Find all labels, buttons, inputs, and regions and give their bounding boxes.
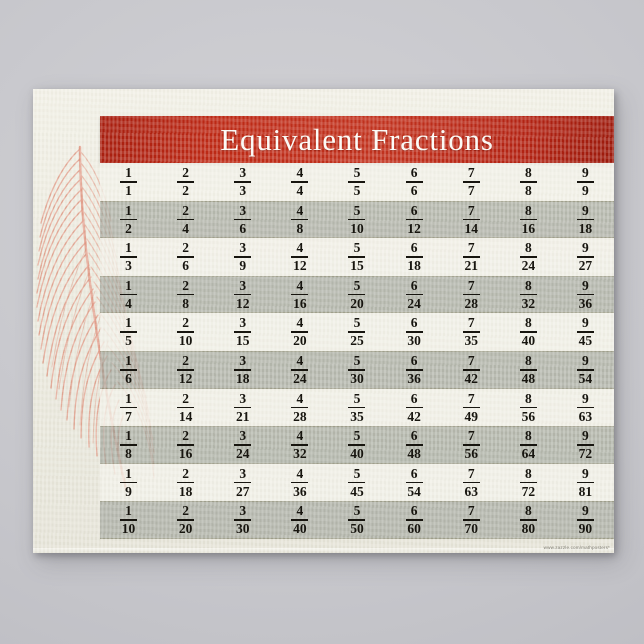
fraction-cell: 981	[557, 467, 614, 499]
fraction-numerator: 3	[239, 504, 246, 519]
fraction-cell: 963	[557, 392, 614, 424]
fraction-denominator: 35	[350, 410, 364, 424]
fraction-cell: 110	[100, 504, 157, 536]
fraction-cell: 770	[443, 504, 500, 536]
fraction-cell: 936	[557, 279, 614, 311]
fraction-numerator: 6	[411, 279, 418, 294]
fraction-cell: 24	[157, 204, 214, 236]
fraction-denominator: 32	[522, 297, 536, 311]
fraction-numerator: 7	[468, 166, 475, 181]
fraction-cell: 312	[214, 279, 271, 311]
fraction-cell: 636	[386, 354, 443, 386]
fraction-cell: 756	[443, 429, 500, 461]
fraction-bar	[463, 219, 480, 221]
fraction-cell: 654	[386, 467, 443, 499]
fraction-cell: 990	[557, 504, 614, 536]
fraction-denominator: 4	[297, 184, 304, 198]
fraction-cell: 36	[214, 204, 271, 236]
fraction-denominator: 3	[125, 259, 132, 273]
fraction-denominator: 36	[407, 372, 421, 386]
fraction-cell: 721	[443, 241, 500, 273]
fraction-numerator: 2	[182, 429, 189, 444]
fraction-cell: 330	[214, 504, 271, 536]
fraction-denominator: 27	[579, 259, 593, 273]
fraction-denominator: 64	[522, 447, 536, 461]
fraction-bar	[291, 407, 308, 409]
fraction-cell: 11	[100, 166, 157, 198]
fraction-cell: 714	[443, 204, 500, 236]
fraction-cell: 55	[328, 166, 385, 198]
fraction-cell: 510	[328, 204, 385, 236]
fraction-denominator: 60	[407, 522, 421, 536]
fraction-cell: 13	[100, 241, 157, 273]
fraction-numerator: 1	[125, 429, 132, 444]
fraction-cell: 927	[557, 241, 614, 273]
fraction-cell: 412	[271, 241, 328, 273]
fraction-denominator: 28	[293, 410, 307, 424]
fraction-denominator: 63	[579, 410, 593, 424]
fraction-numerator: 9	[582, 467, 589, 482]
fraction-numerator: 5	[354, 279, 361, 294]
fraction-denominator: 14	[464, 222, 478, 236]
fraction-numerator: 9	[582, 392, 589, 407]
fraction-numerator: 1	[125, 354, 132, 369]
fraction-numerator: 1	[125, 241, 132, 256]
fraction-numerator: 2	[182, 204, 189, 219]
fraction-numerator: 8	[525, 166, 532, 181]
fraction-denominator: 36	[579, 297, 593, 311]
fraction-denominator: 4	[125, 297, 132, 311]
fraction-denominator: 1	[125, 184, 132, 198]
fraction-bar	[577, 407, 594, 409]
fraction-numerator: 8	[525, 429, 532, 444]
fraction-cell: 48	[271, 204, 328, 236]
fraction-numerator: 8	[525, 354, 532, 369]
fraction-numerator: 2	[182, 354, 189, 369]
fraction-numerator: 4	[297, 467, 304, 482]
fraction-denominator: 7	[468, 184, 475, 198]
fraction-cell: 749	[443, 392, 500, 424]
fraction-denominator: 80	[522, 522, 536, 536]
fraction-numerator: 8	[525, 504, 532, 519]
fraction-bar	[348, 219, 365, 221]
fraction-cell: 77	[443, 166, 500, 198]
fraction-denominator: 72	[522, 485, 536, 499]
fraction-cell: 728	[443, 279, 500, 311]
fraction-numerator: 5	[354, 316, 361, 331]
fraction-denominator: 30	[407, 334, 421, 348]
fraction-denominator: 8	[297, 222, 304, 236]
fraction-cell: 618	[386, 241, 443, 273]
fraction-denominator: 63	[464, 485, 478, 499]
fraction-numerator: 8	[525, 279, 532, 294]
fraction-denominator: 16	[179, 447, 193, 461]
fraction-numerator: 6	[411, 316, 418, 331]
fraction-cell: 918	[557, 204, 614, 236]
fraction-cell: 99	[557, 166, 614, 198]
fraction-bar	[291, 219, 308, 221]
fraction-cell: 22	[157, 166, 214, 198]
fraction-numerator: 7	[468, 354, 475, 369]
fraction-denominator: 45	[579, 334, 593, 348]
fraction-numerator: 4	[297, 166, 304, 181]
fraction-denominator: 42	[464, 372, 478, 386]
fraction-numerator: 3	[239, 279, 246, 294]
table-row: 16212318424530636742848954	[100, 351, 614, 389]
fraction-denominator: 30	[350, 372, 364, 386]
fraction-denominator: 24	[293, 372, 307, 386]
fraction-numerator: 1	[125, 467, 132, 482]
equivalent-fractions-table: 1122334455667788991224364851061271481691…	[100, 163, 614, 537]
fraction-denominator: 18	[179, 485, 193, 499]
fraction-denominator: 25	[350, 334, 364, 348]
fraction-denominator: 90	[579, 522, 593, 536]
fraction-numerator: 4	[297, 279, 304, 294]
fraction-bar	[463, 407, 480, 409]
fraction-numerator: 5	[354, 504, 361, 519]
fraction-bar	[120, 407, 137, 409]
fraction-cell: 44	[271, 166, 328, 198]
fraction-cell: 436	[271, 467, 328, 499]
table-row: 12243648510612714816918	[100, 201, 614, 239]
fraction-cell: 12	[100, 204, 157, 236]
fraction-cell: 424	[271, 354, 328, 386]
fraction-numerator: 8	[525, 316, 532, 331]
fraction-bar	[234, 407, 251, 409]
fraction-denominator: 20	[179, 522, 193, 536]
fraction-denominator: 21	[236, 410, 250, 424]
fraction-numerator: 7	[468, 279, 475, 294]
fraction-denominator: 3	[239, 184, 246, 198]
fraction-denominator: 18	[236, 372, 250, 386]
fraction-cell: 19	[100, 467, 157, 499]
fraction-denominator: 8	[125, 447, 132, 461]
fraction-numerator: 1	[125, 166, 132, 181]
fraction-cell: 33	[214, 166, 271, 198]
fraction-denominator: 12	[179, 372, 193, 386]
fraction-cell: 535	[328, 392, 385, 424]
fraction-cell: 840	[500, 316, 557, 348]
fraction-denominator: 24	[407, 297, 421, 311]
fraction-cell: 742	[443, 354, 500, 386]
poster: Equivalent Fractions 1122334455667788991…	[33, 89, 614, 553]
fraction-denominator: 5	[354, 184, 361, 198]
fraction-numerator: 8	[525, 392, 532, 407]
poster-bottom-edge	[33, 548, 614, 553]
fraction-bar	[177, 407, 194, 409]
table-row: 18216324432540648756864972	[100, 426, 614, 464]
fraction-numerator: 3	[239, 392, 246, 407]
table-row: 1428312416520624728832936	[100, 276, 614, 314]
fraction-numerator: 6	[411, 504, 418, 519]
fraction-cell: 327	[214, 467, 271, 499]
fraction-cell: 212	[157, 354, 214, 386]
fraction-cell: 972	[557, 429, 614, 461]
fraction-numerator: 5	[354, 204, 361, 219]
table-row: 132639412515618721824927	[100, 238, 614, 276]
fraction-bar	[177, 219, 194, 221]
poster-paper: Equivalent Fractions 1122334455667788991…	[33, 89, 614, 553]
fraction-denominator: 36	[293, 485, 307, 499]
fraction-cell: 318	[214, 354, 271, 386]
page-title: Equivalent Fractions	[220, 122, 493, 158]
fraction-denominator: 24	[236, 447, 250, 461]
fraction-numerator: 3	[239, 241, 246, 256]
fraction-cell: 872	[500, 467, 557, 499]
fraction-cell: 624	[386, 279, 443, 311]
fraction-denominator: 20	[293, 334, 307, 348]
fraction-denominator: 6	[239, 222, 246, 236]
fraction-cell: 420	[271, 316, 328, 348]
fraction-cell: 18	[100, 429, 157, 461]
table-row: 110220330440550660770880990	[100, 501, 614, 539]
fraction-numerator: 1	[125, 316, 132, 331]
fraction-cell: 612	[386, 204, 443, 236]
fraction-denominator: 16	[522, 222, 536, 236]
fraction-numerator: 7	[468, 429, 475, 444]
fraction-numerator: 6	[411, 204, 418, 219]
fraction-numerator: 9	[582, 204, 589, 219]
fraction-denominator: 12	[293, 259, 307, 273]
fraction-numerator: 1	[125, 279, 132, 294]
fraction-numerator: 8	[525, 241, 532, 256]
fraction-numerator: 9	[582, 241, 589, 256]
fraction-cell: 515	[328, 241, 385, 273]
fraction-cell: 39	[214, 241, 271, 273]
fraction-denominator: 30	[236, 522, 250, 536]
fraction-numerator: 4	[297, 392, 304, 407]
fraction-cell: 416	[271, 279, 328, 311]
fraction-denominator: 6	[125, 372, 132, 386]
fraction-cell: 864	[500, 429, 557, 461]
table-row: 17214321428535642749856963	[100, 389, 614, 427]
fraction-cell: 66	[386, 166, 443, 198]
fraction-numerator: 2	[182, 279, 189, 294]
fraction-denominator: 21	[464, 259, 478, 273]
fraction-cell: 540	[328, 429, 385, 461]
fraction-cell: 218	[157, 467, 214, 499]
fraction-denominator: 32	[293, 447, 307, 461]
fraction-numerator: 7	[468, 392, 475, 407]
fraction-denominator: 16	[293, 297, 307, 311]
fraction-denominator: 14	[179, 410, 193, 424]
fraction-numerator: 6	[411, 467, 418, 482]
fraction-numerator: 4	[297, 204, 304, 219]
fraction-numerator: 9	[582, 504, 589, 519]
fraction-cell: 550	[328, 504, 385, 536]
fraction-denominator: 48	[407, 447, 421, 461]
fraction-numerator: 2	[182, 241, 189, 256]
fraction-cell: 321	[214, 392, 271, 424]
fraction-denominator: 54	[579, 372, 593, 386]
fraction-bar	[406, 407, 423, 409]
fraction-denominator: 10	[350, 222, 364, 236]
fraction-numerator: 7	[468, 204, 475, 219]
fraction-cell: 630	[386, 316, 443, 348]
fraction-denominator: 81	[579, 485, 593, 499]
fraction-denominator: 12	[407, 222, 421, 236]
fraction-denominator: 49	[464, 410, 478, 424]
watermark-credit: www.zazzle.com/mathposters*	[544, 545, 610, 550]
fraction-cell: 848	[500, 354, 557, 386]
fraction-denominator: 56	[522, 410, 536, 424]
fraction-numerator: 3	[239, 467, 246, 482]
fraction-numerator: 3	[239, 204, 246, 219]
fraction-cell: 15	[100, 316, 157, 348]
fraction-denominator: 8	[182, 297, 189, 311]
fraction-numerator: 4	[297, 429, 304, 444]
fraction-numerator: 7	[468, 467, 475, 482]
fraction-cell: 26	[157, 241, 214, 273]
fraction-cell: 324	[214, 429, 271, 461]
fraction-numerator: 9	[582, 316, 589, 331]
fraction-numerator: 1	[125, 204, 132, 219]
fraction-denominator: 48	[522, 372, 536, 386]
fraction-cell: 824	[500, 241, 557, 273]
fraction-numerator: 2	[182, 504, 189, 519]
fraction-denominator: 7	[125, 410, 132, 424]
fraction-cell: 954	[557, 354, 614, 386]
fraction-cell: 735	[443, 316, 500, 348]
fraction-denominator: 10	[122, 522, 136, 536]
fraction-denominator: 28	[464, 297, 478, 311]
fraction-cell: 880	[500, 504, 557, 536]
fraction-cell: 763	[443, 467, 500, 499]
fraction-numerator: 6	[411, 429, 418, 444]
fraction-numerator: 3	[239, 354, 246, 369]
fraction-denominator: 9	[125, 485, 132, 499]
fraction-numerator: 2	[182, 316, 189, 331]
fraction-numerator: 9	[582, 279, 589, 294]
fraction-numerator: 8	[525, 467, 532, 482]
table-row: 112233445566778899	[100, 163, 614, 201]
fraction-cell: 440	[271, 504, 328, 536]
fraction-denominator: 56	[464, 447, 478, 461]
fraction-numerator: 6	[411, 392, 418, 407]
fraction-numerator: 6	[411, 354, 418, 369]
fraction-denominator: 4	[182, 222, 189, 236]
fraction-cell: 660	[386, 504, 443, 536]
fraction-numerator: 4	[297, 354, 304, 369]
fraction-cell: 28	[157, 279, 214, 311]
fraction-numerator: 3	[239, 429, 246, 444]
fraction-numerator: 5	[354, 392, 361, 407]
fraction-numerator: 9	[582, 354, 589, 369]
fraction-denominator: 40	[293, 522, 307, 536]
fraction-numerator: 5	[354, 241, 361, 256]
fraction-denominator: 72	[579, 447, 593, 461]
fraction-denominator: 18	[579, 222, 593, 236]
fraction-cell: 530	[328, 354, 385, 386]
fraction-numerator: 7	[468, 504, 475, 519]
fraction-numerator: 9	[582, 166, 589, 181]
fraction-denominator: 15	[350, 259, 364, 273]
fraction-denominator: 40	[522, 334, 536, 348]
fraction-denominator: 20	[350, 297, 364, 311]
fraction-numerator: 9	[582, 429, 589, 444]
fraction-numerator: 7	[468, 241, 475, 256]
fraction-denominator: 42	[407, 410, 421, 424]
fraction-numerator: 4	[297, 504, 304, 519]
fraction-cell: 525	[328, 316, 385, 348]
fraction-denominator: 27	[236, 485, 250, 499]
table-row: 19218327436545654763872981	[100, 464, 614, 502]
fraction-denominator: 50	[350, 522, 364, 536]
fraction-numerator: 5	[354, 429, 361, 444]
fraction-denominator: 10	[179, 334, 193, 348]
fraction-cell: 214	[157, 392, 214, 424]
fraction-denominator: 9	[582, 184, 589, 198]
fraction-numerator: 2	[182, 392, 189, 407]
fraction-denominator: 54	[407, 485, 421, 499]
fraction-denominator: 6	[182, 259, 189, 273]
fraction-numerator: 6	[411, 166, 418, 181]
fraction-cell: 210	[157, 316, 214, 348]
fraction-numerator: 3	[239, 316, 246, 331]
fraction-denominator: 40	[350, 447, 364, 461]
fraction-denominator: 70	[464, 522, 478, 536]
fraction-bar	[577, 219, 594, 221]
fraction-numerator: 1	[125, 504, 132, 519]
fraction-cell: 88	[500, 166, 557, 198]
fraction-cell: 945	[557, 316, 614, 348]
fraction-denominator: 12	[236, 297, 250, 311]
fraction-numerator: 1	[125, 392, 132, 407]
fraction-denominator: 5	[125, 334, 132, 348]
fraction-denominator: 45	[350, 485, 364, 499]
fraction-cell: 520	[328, 279, 385, 311]
fraction-denominator: 6	[411, 184, 418, 198]
fraction-bar	[348, 407, 365, 409]
fraction-bar	[120, 219, 137, 221]
fraction-numerator: 7	[468, 316, 475, 331]
fraction-denominator: 2	[125, 222, 132, 236]
fraction-cell: 545	[328, 467, 385, 499]
fraction-cell: 648	[386, 429, 443, 461]
fraction-cell: 428	[271, 392, 328, 424]
fraction-denominator: 15	[236, 334, 250, 348]
fraction-cell: 17	[100, 392, 157, 424]
fraction-cell: 14	[100, 279, 157, 311]
fraction-cell: 216	[157, 429, 214, 461]
fraction-denominator: 8	[525, 184, 532, 198]
fraction-numerator: 5	[354, 166, 361, 181]
fraction-cell: 642	[386, 392, 443, 424]
fraction-cell: 220	[157, 504, 214, 536]
fraction-bar	[406, 219, 423, 221]
fraction-cell: 432	[271, 429, 328, 461]
fraction-numerator: 5	[354, 354, 361, 369]
fraction-numerator: 2	[182, 166, 189, 181]
fraction-bar	[520, 219, 537, 221]
fraction-cell: 315	[214, 316, 271, 348]
fraction-denominator: 9	[239, 259, 246, 273]
fraction-numerator: 5	[354, 467, 361, 482]
fraction-numerator: 8	[525, 204, 532, 219]
fraction-cell: 816	[500, 204, 557, 236]
fraction-denominator: 2	[182, 184, 189, 198]
poster-title-banner: Equivalent Fractions	[100, 116, 614, 163]
fraction-numerator: 3	[239, 166, 246, 181]
fraction-numerator: 6	[411, 241, 418, 256]
fraction-denominator: 35	[464, 334, 478, 348]
fraction-bar	[234, 219, 251, 221]
fraction-numerator: 4	[297, 241, 304, 256]
fraction-cell: 16	[100, 354, 157, 386]
table-row: 15210315420525630735840945	[100, 313, 614, 351]
fraction-cell: 856	[500, 392, 557, 424]
fraction-denominator: 24	[522, 259, 536, 273]
